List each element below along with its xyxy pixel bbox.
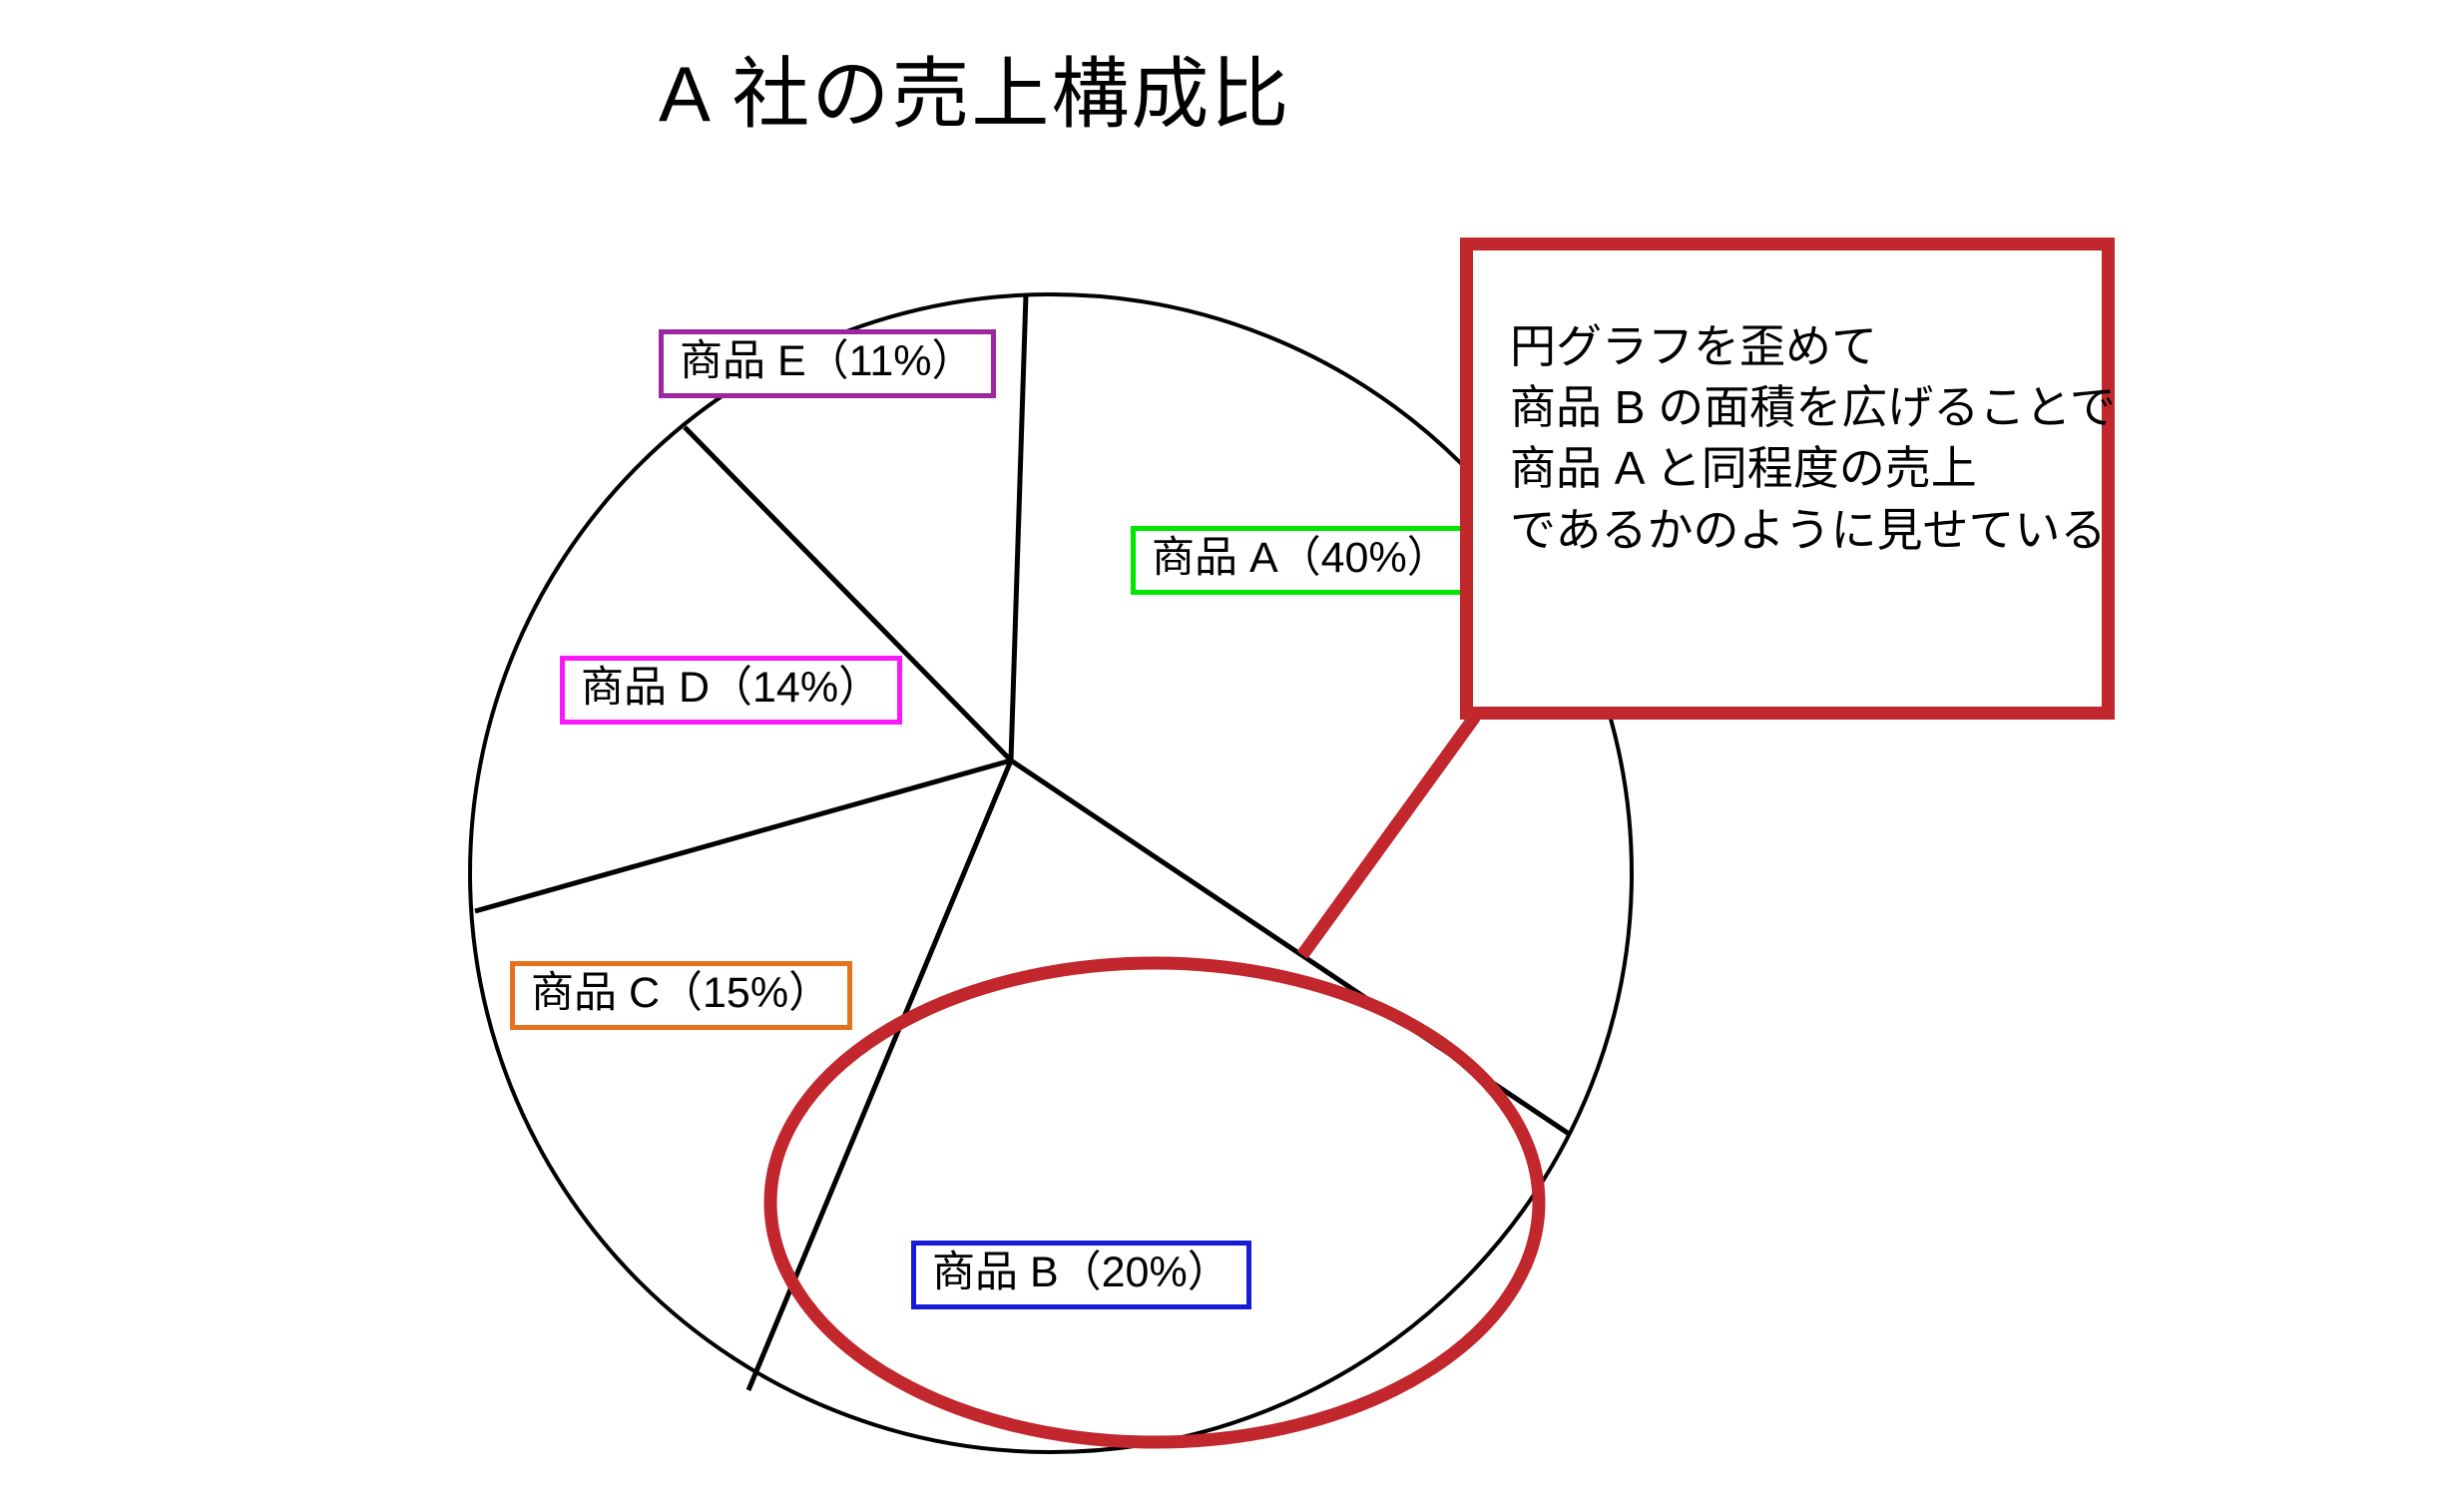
annotation-line-2: 商品 B の面積を広げることで <box>1510 377 2102 438</box>
pie-label-product-c: 商品 C（15%） <box>510 961 852 1030</box>
annotation-callout-box: 円グラフを歪めて 商品 B の面積を広げることで 商品 A と同程度の売上 であ… <box>1460 238 2115 720</box>
pie-label-product-c-text: 商品 C（15%） <box>531 972 831 1015</box>
annotation-line-1: 円グラフを歪めて <box>1510 316 2102 377</box>
pie-label-product-e-text: 商品 E（11%） <box>680 340 975 383</box>
pie-label-product-b: 商品 B（20%） <box>911 1241 1251 1309</box>
pie-label-product-d: 商品 D（14%） <box>560 656 902 725</box>
slide-canvas: A 社の売上構成比 商品 A（40%） 商品 B（20%） 商品 C（15%） … <box>0 0 2447 1512</box>
pie-label-product-a: 商品 A（40%） <box>1131 526 1471 595</box>
annotation-line-4: であるかのように見せている <box>1510 500 2102 561</box>
pie-label-product-d-text: 商品 D（14%） <box>581 667 881 710</box>
pie-label-product-a-text: 商品 A（40%） <box>1152 537 1450 580</box>
pie-label-product-e: 商品 E（11%） <box>659 329 996 398</box>
pie-label-product-b-text: 商品 B（20%） <box>932 1252 1230 1294</box>
annotation-line-3: 商品 A と同程度の売上 <box>1510 438 2102 499</box>
